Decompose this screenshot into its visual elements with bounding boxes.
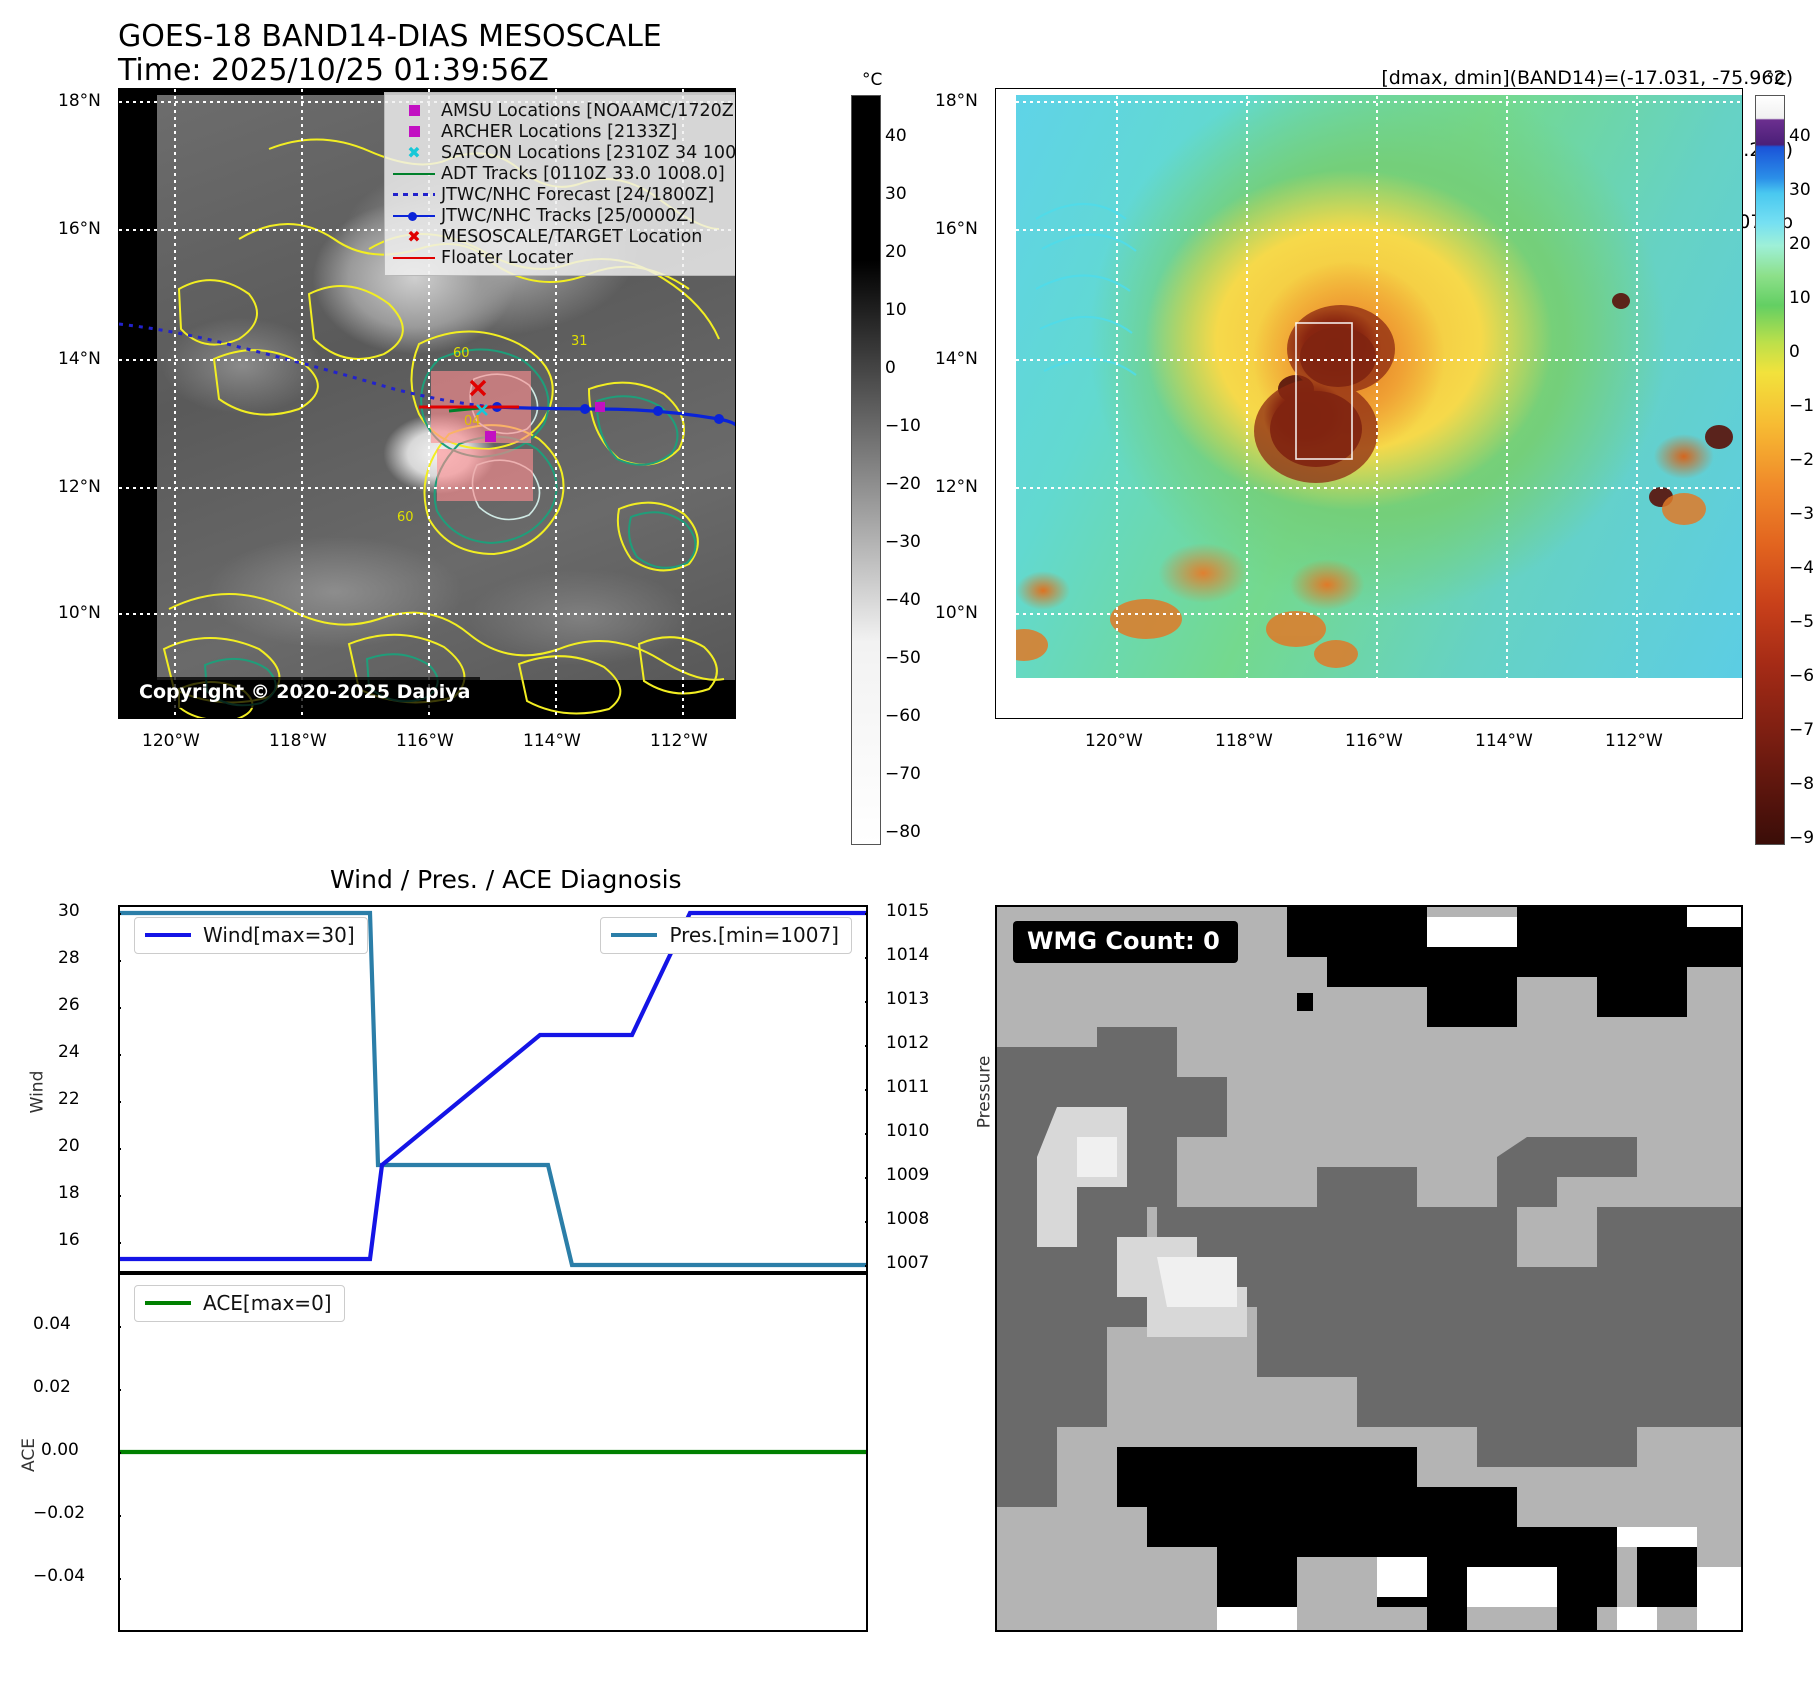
ace-ytick-002n: −0.02 bbox=[33, 1503, 85, 1523]
forecast-dotted-line-icon bbox=[393, 184, 435, 205]
legend-row-forecast: JTWC/NHC Forecast [24/1800Z] bbox=[393, 184, 736, 205]
awv-lat-tick-2: 14°N bbox=[935, 349, 978, 369]
pressure-axis-label: Pressure bbox=[974, 1056, 994, 1129]
ir-lon-tick-0: 120°W bbox=[142, 731, 200, 751]
ir-lon-tick-4: 112°W bbox=[650, 731, 708, 751]
awv-lat-tick-0: 18°N bbox=[935, 91, 978, 111]
ir-lon-tick-3: 114°W bbox=[523, 731, 581, 751]
pres-ytick-1011: 1011 bbox=[886, 1077, 929, 1097]
floater-line-icon bbox=[393, 247, 435, 268]
pres-ytick-1007: 1007 bbox=[886, 1253, 929, 1273]
ace-axis-label: ACE bbox=[19, 1438, 39, 1472]
awv-colorbar: 40 30 20 10 0 −10 −20 −30 −40 −50 −60 −7… bbox=[1755, 95, 1785, 845]
wmg-count-badge: WMG Count: 0 bbox=[1013, 921, 1238, 963]
page-title: GOES-18 BAND14-DIAS MESOSCALE bbox=[118, 18, 662, 56]
ir-legend: AMSU Locations [NOAAMC/1720Z 36 1000] AR… bbox=[384, 92, 736, 276]
ace-ytick-002p: 0.02 bbox=[33, 1377, 71, 1397]
gray-cb-tick-8: −40 bbox=[885, 590, 921, 610]
amsu-square-icon bbox=[393, 100, 435, 121]
gray-cb-tick-5: −10 bbox=[885, 416, 921, 436]
ir-satellite-image-panel[interactable]: 04 60 31 60 AMSU Locations [NOAAMC/1720Z… bbox=[118, 88, 736, 719]
legend-label-forecast: JTWC/NHC Forecast [24/1800Z] bbox=[435, 184, 736, 205]
gray-colorbar-unit: °C bbox=[862, 70, 882, 90]
copyright-notice: Copyright © 2020-2025 Dapiya bbox=[129, 677, 480, 708]
wind-series-swatch bbox=[145, 933, 191, 937]
wind-ytick-22: 22 bbox=[58, 1089, 80, 1109]
gray-cb-tick-2: 20 bbox=[885, 242, 907, 262]
legend-label-floater: Floater Locater bbox=[435, 247, 736, 268]
awv-lon-tick-3: 114°W bbox=[1475, 731, 1533, 751]
ir-lat-tick-3: 12°N bbox=[58, 477, 101, 497]
pressure-legend-label: Pres.[min=1007] bbox=[669, 923, 839, 947]
awv-cb-tick-9: −50 bbox=[1789, 612, 1813, 632]
ace-ytick-000: 0.00 bbox=[41, 1440, 79, 1460]
wind-ytick-28: 28 bbox=[58, 948, 80, 968]
legend-label-target: MESOSCALE/TARGET Location bbox=[435, 226, 736, 247]
wind-axis-label: Wind bbox=[27, 1071, 47, 1114]
ir-lon-tick-2: 116°W bbox=[396, 731, 454, 751]
legend-row-adt: ADT Tracks [0110Z 33.0 1008.0] bbox=[393, 163, 736, 184]
goes-mesoscale-dashboard: GOES-18 BAND14-DIAS MESOSCALE Time: 2025… bbox=[0, 0, 1813, 1690]
gray-cb-tick-11: −70 bbox=[885, 764, 921, 784]
legend-row-amsu: AMSU Locations [NOAAMC/1720Z 36 1000] bbox=[393, 100, 736, 121]
awv-cb-tick-6: −20 bbox=[1789, 450, 1813, 470]
target-x-icon: ✖ bbox=[393, 226, 435, 247]
wind-ytick-20: 20 bbox=[58, 1136, 80, 1156]
awv-cb-tick-2: 20 bbox=[1789, 234, 1811, 254]
ir-lon-tick-1: 118°W bbox=[269, 731, 327, 751]
gray-cb-tick-12: −80 bbox=[885, 822, 921, 842]
awv-cb-tick-7: −30 bbox=[1789, 504, 1813, 524]
awv-cb-tick-4: 0 bbox=[1789, 342, 1800, 362]
tracks-line-marker-icon bbox=[393, 205, 435, 226]
awv-cb-tick-11: −70 bbox=[1789, 720, 1813, 740]
awv-cb-tick-8: −40 bbox=[1789, 558, 1813, 578]
legend-row-target: ✖ MESOSCALE/TARGET Location bbox=[393, 226, 736, 247]
awv-lon-tick-1: 118°W bbox=[1215, 731, 1273, 751]
awv-lon-tick-4: 112°W bbox=[1605, 731, 1663, 751]
pressure-series-swatch bbox=[611, 933, 657, 937]
timestamp-label: Time: 2025/10/25 01:39:56Z bbox=[118, 52, 549, 90]
legend-row-archer: ARCHER Locations [2133Z] bbox=[393, 121, 736, 142]
awv-lat-tick-4: 10°N bbox=[935, 603, 978, 623]
wind-legend: Wind[max=30] bbox=[134, 917, 368, 954]
awv-lon-tick-0: 120°W bbox=[1085, 731, 1143, 751]
pres-ytick-1014: 1014 bbox=[886, 945, 929, 965]
gray-cb-tick-0: 40 bbox=[885, 126, 907, 146]
awv-cb-tick-1: 30 bbox=[1789, 180, 1811, 200]
pressure-legend: Pres.[min=1007] bbox=[600, 917, 852, 954]
awv-cb-tick-12: −80 bbox=[1789, 774, 1813, 794]
ace-series-plot bbox=[120, 1275, 866, 1630]
adt-line-icon bbox=[393, 163, 435, 184]
wind-ytick-24: 24 bbox=[58, 1042, 80, 1062]
pres-ytick-1009: 1009 bbox=[886, 1165, 929, 1185]
wind-ytick-26: 26 bbox=[58, 995, 80, 1015]
awv-colorbar-unit: °C bbox=[1766, 70, 1786, 90]
legend-label-archer: ARCHER Locations [2133Z] bbox=[435, 121, 736, 142]
ace-ytick-004n: −0.04 bbox=[33, 1566, 85, 1586]
ace-legend-label: ACE[max=0] bbox=[203, 1291, 332, 1315]
pres-ytick-1013: 1013 bbox=[886, 989, 929, 1009]
pres-ytick-1012: 1012 bbox=[886, 1033, 929, 1053]
gray-cb-tick-9: −50 bbox=[885, 648, 921, 668]
awv-lat-tick-1: 16°N bbox=[935, 219, 978, 239]
gray-colorbar: 40 30 20 10 0 −10 −20 −30 −40 −50 −60 −7… bbox=[851, 95, 881, 845]
awv-cb-tick-10: −60 bbox=[1789, 666, 1813, 686]
awv-satellite-image-panel[interactable] bbox=[995, 88, 1743, 719]
satcon-x-icon: ✖ bbox=[393, 142, 435, 163]
pres-ytick-1010: 1010 bbox=[886, 1121, 929, 1141]
gray-cb-tick-10: −60 bbox=[885, 706, 921, 726]
awv-cb-tick-13: −90 bbox=[1789, 828, 1813, 848]
pres-ytick-1015: 1015 bbox=[886, 901, 929, 921]
legend-row-satcon: ✖ SATCON Locations [2310Z 34 1007] bbox=[393, 142, 736, 163]
ir-lat-tick-1: 16°N bbox=[58, 219, 101, 239]
legend-row-floater: Floater Locater bbox=[393, 247, 736, 268]
awv-lon-tick-2: 116°W bbox=[1345, 731, 1403, 751]
awv-cb-tick-5: −10 bbox=[1789, 396, 1813, 416]
ir-lat-tick-2: 14°N bbox=[58, 349, 101, 369]
awv-graticule bbox=[996, 89, 1742, 718]
ace-chart[interactable]: ACE[max=0] bbox=[118, 1273, 868, 1632]
ace-series-swatch bbox=[145, 1301, 191, 1305]
gray-cb-tick-7: −30 bbox=[885, 532, 921, 552]
awv-cb-tick-0: 40 bbox=[1789, 126, 1811, 146]
wind-pressure-series-plot bbox=[120, 907, 866, 1271]
diagnosis-title: Wind / Pres. / ACE Diagnosis bbox=[330, 865, 682, 894]
wind-legend-label: Wind[max=30] bbox=[203, 923, 355, 947]
awv-cb-tick-3: 10 bbox=[1789, 288, 1811, 308]
gray-cb-tick-4: 0 bbox=[885, 358, 896, 378]
archer-square-icon bbox=[393, 121, 435, 142]
wind-ytick-18: 18 bbox=[58, 1183, 80, 1203]
pres-ytick-1008: 1008 bbox=[886, 1209, 929, 1229]
wind-ytick-30: 30 bbox=[58, 901, 80, 921]
ir-lat-tick-0: 18°N bbox=[58, 91, 101, 111]
legend-label-adt: ADT Tracks [0110Z 33.0 1008.0] bbox=[435, 163, 736, 184]
awv-lat-tick-3: 12°N bbox=[935, 477, 978, 497]
gray-cb-tick-1: 30 bbox=[885, 184, 907, 204]
legend-label-satcon: SATCON Locations [2310Z 34 1007] bbox=[435, 142, 736, 163]
wind-pressure-chart[interactable]: Wind[max=30] Pres.[min=1007] bbox=[118, 905, 868, 1273]
legend-label-amsu: AMSU Locations [NOAAMC/1720Z 36 1000] bbox=[435, 100, 736, 121]
gray-cb-tick-6: −20 bbox=[885, 474, 921, 494]
ace-ytick-004p: 0.04 bbox=[33, 1314, 71, 1334]
wind-ytick-16: 16 bbox=[58, 1230, 80, 1250]
wmg-raster bbox=[997, 907, 1741, 1630]
wmg-cloud-classification-panel[interactable]: WMG Count: 0 bbox=[995, 905, 1743, 1632]
legend-row-tracks: JTWC/NHC Tracks [25/0000Z] bbox=[393, 205, 736, 226]
legend-label-tracks: JTWC/NHC Tracks [25/0000Z] bbox=[435, 205, 736, 226]
ir-lat-tick-4: 10°N bbox=[58, 603, 101, 623]
ace-legend: ACE[max=0] bbox=[134, 1285, 345, 1322]
gray-cb-tick-3: 10 bbox=[885, 300, 907, 320]
dmax-dmin-band14: [dmax, dmin](BAND14)=(-17.031, -75.962) bbox=[1381, 66, 1793, 90]
